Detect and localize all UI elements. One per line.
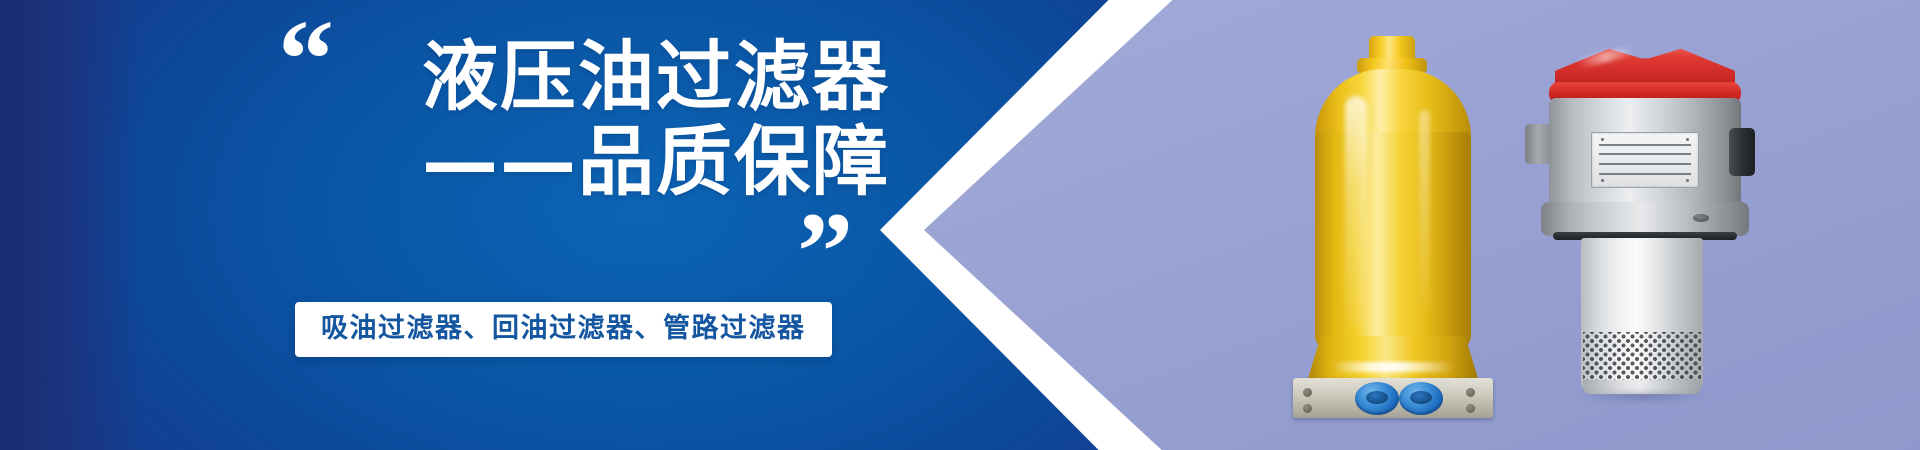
nameplate-rivet [1686,179,1689,182]
promo-banner: “ „ 液压油过滤器 ——品质保障 吸油过滤器、回油过滤器、管路过滤器 [0,0,1920,450]
subtitle-box: 吸油过滤器、回油过滤器、管路过滤器 [295,302,832,357]
filter-body-highlight-secondary [1419,110,1430,310]
nameplate-line [1599,153,1691,155]
headline-line-1: 液压油过滤器 [330,36,890,117]
filter-skirt-highlight [1331,362,1455,372]
filter-port-opening [1366,391,1388,404]
filter-side-port-right [1729,128,1755,176]
filter-skirt [1307,336,1479,382]
quote-open-icon: “ [278,4,334,116]
banner-headline: 液压油过滤器 ——品质保障 [330,36,890,203]
nameplate-rivet [1601,179,1604,182]
headline-line-2: ——品质保障 [330,121,890,202]
filter-body-highlight [1345,96,1367,326]
nameplate-line [1599,144,1691,146]
filter-body [1315,132,1471,348]
mounting-bolt-hole [1466,388,1475,397]
strainer-perforations [1583,332,1701,384]
mounting-bolt-hole [1303,404,1312,413]
nameplate-rivet [1601,138,1604,141]
filter-nameplate [1591,132,1699,188]
left-accent-band-inner [0,0,60,450]
product-shadow [1577,390,1709,402]
nameplate-line [1599,163,1691,165]
filter-port-opening [1410,391,1432,404]
mounting-bolt-hole [1303,388,1312,397]
nameplate-line [1599,173,1691,175]
filter-side-port-left [1525,124,1551,164]
subtitle-text: 吸油过滤器、回油过滤器、管路过滤器 [321,315,806,342]
filter-flange [1541,202,1749,236]
nameplate-rivet [1686,138,1689,141]
mounting-bolt-hole [1466,404,1475,413]
product-return-filter [1525,44,1760,404]
product-suction-filter [1285,36,1500,411]
flange-bolt-hole [1693,214,1709,222]
